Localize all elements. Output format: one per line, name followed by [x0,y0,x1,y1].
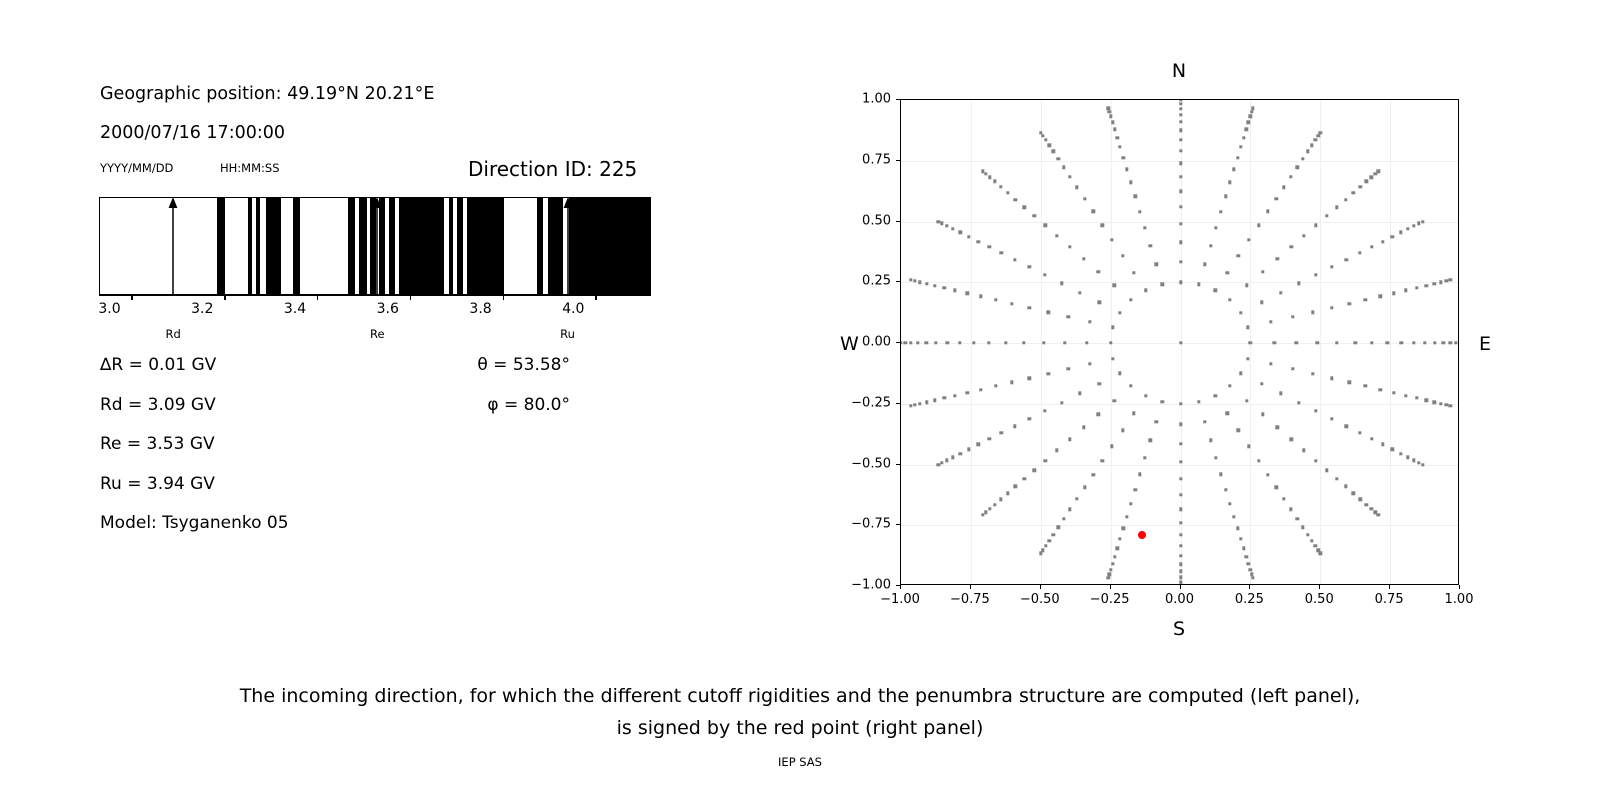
direction-point [945,224,948,227]
direction-point [1060,282,1063,285]
direction-point [1122,527,1125,530]
x-axis-tick-label: 0.00 [1165,592,1194,607]
direction-point [918,281,921,284]
direction-point [1330,265,1333,268]
direction-point [1226,412,1229,415]
direction-point [1214,394,1217,397]
direction-point [1247,238,1250,241]
direction-point [1179,493,1182,496]
direction-point [1392,391,1395,394]
direction-point [1249,341,1252,344]
penumbra-marker-arrow-rd [166,195,180,295]
direction-point [1155,263,1158,266]
direction-point [1010,302,1013,305]
direction-point [1132,271,1135,274]
direction-point [1236,156,1239,159]
direction-point [1454,341,1457,344]
direction-point [1179,460,1182,463]
direction-point [1121,429,1124,432]
direction-point [1335,341,1338,344]
gridline-horizontal [901,465,1458,466]
direction-point [951,227,954,230]
x-axis-tick [1180,585,1181,589]
direction-point [1101,459,1104,462]
direction-point [1381,240,1384,243]
direction-point [1134,488,1137,491]
direction-point [1203,420,1206,423]
direction-point [1257,223,1260,226]
direction-point [1251,107,1254,110]
direction-point [1302,449,1305,452]
direction-point [1179,175,1182,178]
x-axis-tick-label: −0.75 [950,592,990,607]
gridline-vertical [1320,100,1321,584]
direction-point [1179,260,1182,263]
direction-point [1275,485,1278,488]
direction-point [1039,131,1042,134]
x-axis-tick [900,585,901,589]
direction-point [1098,382,1101,385]
direction-point [1421,220,1424,223]
direction-point [1062,517,1065,520]
direction-point [1179,562,1182,565]
direction-point [1110,238,1113,241]
parameter-row: Model: Tsyganenko 05 [100,513,700,553]
penumbra-forbidden-band [399,198,444,294]
direction-point [925,400,928,403]
direction-point [1179,570,1182,573]
direction-point [979,295,982,298]
direction-point [1291,367,1294,370]
direction-point [1314,273,1317,276]
penumbra-axis-tick-label: 3.8 [469,301,491,317]
direction-point [1236,527,1239,530]
direction-point [1260,301,1263,304]
direction-point [1358,431,1361,434]
direction-point [1319,552,1322,555]
direction-point [1179,129,1182,132]
x-axis-tick [1459,585,1460,589]
direction-point [1335,206,1338,209]
direction-point [945,341,948,344]
direction-point [953,289,956,292]
direction-point [1228,298,1231,301]
y-axis-tick [896,585,900,586]
direction-point [1224,195,1227,198]
direction-point [1242,136,1245,139]
y-axis-tick-label: −0.25 [846,395,891,410]
direction-point [1348,381,1351,384]
penumbra-forbidden-band [266,198,281,294]
penumbra-forbidden-band [248,198,252,294]
direction-point [993,180,996,183]
direction-point [1325,214,1328,217]
direction-point [1143,226,1146,229]
footer-credit: IEP SAS [0,755,1600,769]
direction-point [1179,120,1182,123]
direction-point [1314,409,1317,412]
direction-point [1391,235,1394,238]
direction-point [1365,180,1368,183]
direction-point [1370,175,1373,178]
direction-point [1415,286,1418,289]
direction-point [1044,544,1047,547]
direction-point [1057,525,1060,528]
direction-point [1179,161,1182,164]
penumbra-axis-tick-label: 3.2 [191,301,213,317]
penumbra-forbidden-band [457,198,463,294]
direction-point [1364,298,1367,301]
direction-point [1316,134,1319,137]
caption-line-2: is signed by the red point (right panel) [0,712,1600,744]
penumbra-marker-arrow-ru [561,195,575,295]
direction-point [933,399,936,402]
direction-point [1179,533,1182,536]
direction-point [1330,306,1333,309]
parameter-name-value: Re = 3.53 GV [100,434,215,454]
direction-point [1423,341,1426,344]
direction-point [1237,254,1240,257]
penumbra-axis-tick-label: 3.6 [377,301,399,317]
direction-point [1109,568,1112,571]
direction-point [1445,279,1448,282]
direction-point [1067,315,1070,318]
direction-point [1144,394,1147,397]
direction-point [1376,513,1379,516]
direction-point [1097,270,1100,273]
direction-point [972,341,975,344]
direction-point [1028,377,1031,380]
direction-point [959,452,962,455]
direction-point [1376,169,1379,172]
compass-label-east: E [1479,333,1491,355]
direction-point [953,394,956,397]
direction-point [1289,175,1292,178]
direction-point [1439,402,1442,405]
direction-point [1097,413,1100,416]
direction-point [1442,341,1445,344]
direction-point [999,498,1002,501]
direction-point [1364,384,1367,387]
direction-point [1179,341,1182,344]
direction-point [909,404,912,407]
direction-point [1379,295,1382,298]
direction-point [1033,214,1036,217]
direction-point [1247,121,1250,124]
direction-point [1209,439,1212,442]
y-axis-tick-label: 0.00 [846,335,891,350]
penumbra-forbidden-band [449,198,454,294]
direction-point [1006,191,1009,194]
direction-point [1404,289,1407,292]
direction-point [900,341,903,344]
direction-point [1228,384,1231,387]
direction-point [1386,341,1389,344]
penumbra-forbidden-band [348,198,355,294]
geographic-position-label: Geographic position: 49.19°N 20.21°E [100,84,435,104]
direction-point [1359,185,1362,188]
y-axis-tick-label: 0.25 [846,274,891,289]
penumbra-forbidden-band [293,198,301,294]
direction-point [1247,562,1250,565]
direction-point [1458,341,1459,344]
direction-point [1353,341,1356,344]
direction-point [1179,240,1182,243]
direction-point [1348,302,1351,305]
direction-point [1022,341,1025,344]
direction-point [1042,341,1045,344]
direction-point [1052,533,1055,536]
compass-label-south: S [1173,618,1185,640]
direction-point [1319,131,1322,134]
penumbra-forbidden-band [256,198,261,294]
direction-point [1314,544,1317,547]
gridline-horizontal [901,525,1458,526]
direction-point [1379,388,1382,391]
direction-point [1129,502,1132,505]
direction-point [1289,508,1292,511]
direction-point [1111,562,1114,565]
direction-point [1129,384,1132,387]
direction-point [1261,270,1264,273]
direction-point [918,402,921,405]
penumbra-axis: 3.03.23.43.63.84.0RdReRu [99,295,651,355]
y-axis-tick [896,524,900,525]
direction-point [1057,157,1060,160]
gridline-vertical [1390,100,1391,584]
direction-point [1433,400,1436,403]
direction-point [1335,477,1338,480]
direction-point [988,175,991,178]
direction-point [1144,289,1147,292]
y-axis-tick-label: −0.75 [846,517,891,532]
direction-point [1214,456,1217,459]
direction-point [1197,283,1200,286]
direction-point [1399,452,1402,455]
direction-point [1314,138,1317,141]
direction-point [1301,525,1304,528]
direction-point [1043,273,1046,276]
direction-point [1179,189,1182,192]
direction-point [951,456,954,459]
direction-point [999,185,1002,188]
direction-point [1392,292,1395,295]
direction-point [1043,459,1046,462]
direction-point [1179,521,1182,524]
direction-point [1399,231,1402,234]
y-axis-tick [896,281,900,282]
direction-point [1219,473,1222,476]
direction-point [1044,138,1047,141]
direction-point [1129,181,1132,184]
direction-point [1197,400,1200,403]
direction-point [1091,473,1094,476]
direction-point [1113,284,1116,287]
direction-point [1179,477,1182,480]
direction-point [1047,143,1050,146]
y-axis-tick-label: 1.00 [846,92,891,107]
direction-point [1433,341,1436,344]
direction-point [1269,362,1272,365]
y-axis-tick [896,99,900,100]
direction-point [1226,271,1229,274]
direction-point [1314,224,1317,227]
x-axis-tick [1110,585,1111,589]
direction-point [1023,477,1026,480]
direction-point [1060,401,1063,404]
direction-point [903,341,906,344]
direction-point [1239,311,1242,314]
direction-point [1143,456,1146,459]
y-axis-tick-label: 0.50 [846,213,891,228]
direction-point [1155,420,1158,423]
penumbra-axis-tick [503,295,504,300]
direction-point [1115,547,1118,550]
direction-point [1047,310,1050,313]
direction-point [1276,425,1279,428]
direction-point [1179,508,1182,511]
direction-point [1203,263,1206,266]
penumbra-forbidden-band [467,198,503,294]
parameter-name-value: ∆R = 0.01 GV [100,355,216,375]
penumbra-marker-label-ru: Ru [560,327,575,341]
direction-point [1028,417,1031,420]
y-axis-tick-label: 0.75 [846,152,891,167]
direction-point [1113,399,1116,402]
direction-point [1055,449,1058,452]
direction-point [1000,251,1003,254]
direction-point [1106,576,1109,579]
direction-point [1108,110,1111,113]
y-axis-tick [896,403,900,404]
direction-point [1115,136,1118,139]
direction-point [1013,425,1016,428]
direction-point [1179,423,1182,426]
direction-point [1445,403,1448,406]
direction-point [1023,206,1026,209]
direction-point [925,282,928,285]
direction-point [1359,498,1362,501]
direction-point [1406,227,1409,230]
parameter-row: Rd = 3.09 GVφ = 80.0° [100,395,700,435]
direction-point [1449,278,1452,281]
direction-point [1043,224,1046,227]
direction-point [1272,341,1275,344]
parameter-list: ∆R = 0.01 GVθ = 53.58°Rd = 3.09 GVφ = 80… [100,355,700,553]
direction-point [1237,429,1240,432]
direction-point [1062,166,1065,169]
direction-point [1000,431,1003,434]
direction-point [1179,442,1182,445]
direction-point [1239,537,1242,540]
direction-point [1078,392,1081,395]
x-axis-tick-label: 0.50 [1305,592,1334,607]
direction-point [1295,166,1298,169]
direction-point [1118,311,1121,314]
direction-point [1028,265,1031,268]
direction-point [1111,326,1114,329]
direction-point [943,396,946,399]
caption-line-1: The incoming direction, for which the di… [0,680,1600,712]
parameter-name-value: Ru = 3.94 GV [100,474,215,494]
direction-point [1149,439,1152,442]
direction-point [937,463,940,466]
parameter-angle-value: θ = 53.58° [477,355,570,375]
direction-point [988,507,991,510]
direction-point [1345,425,1348,428]
direction-point [1352,191,1355,194]
direction-point [1282,497,1285,500]
direction-point [988,437,991,440]
direction-point [1138,473,1141,476]
direction-point [1314,459,1317,462]
direction-point [1010,381,1013,384]
direction-point [1330,377,1333,380]
direction-point [987,341,990,344]
direction-point [1358,251,1361,254]
penumbra-forbidden-band [389,198,395,294]
direction-point [1179,149,1182,152]
direction-point [1415,396,1418,399]
direction-point [1421,463,1424,466]
direction-point [913,279,916,282]
penumbra-axis-tick [595,295,596,300]
direction-point [1224,488,1227,491]
direction-point [1275,197,1278,200]
direction-point [1085,341,1088,344]
direction-point [1091,210,1094,213]
direction-point [1109,341,1112,344]
parameter-name-value: Model: Tsyganenko 05 [100,513,289,533]
direction-scatter-plot [900,99,1459,585]
direction-point [1179,102,1182,105]
direction-point [1239,372,1242,375]
direction-point [958,341,961,344]
direction-point [1083,485,1086,488]
y-axis-tick [896,221,900,222]
direction-point [1232,515,1235,518]
direction-point [981,169,984,172]
direction-point [966,391,969,394]
direction-point [1306,150,1309,153]
x-axis-tick [1319,585,1320,589]
direction-point [1266,210,1269,213]
direction-point [909,278,912,281]
direction-point [1033,468,1036,471]
direction-point [1232,168,1235,171]
direction-point [1067,367,1070,370]
direction-point [1111,357,1114,360]
direction-point [1088,362,1091,365]
direction-point [1370,507,1373,510]
direction-point [1249,115,1252,118]
direction-point [1412,459,1415,462]
direction-point [1125,515,1128,518]
direction-point [966,292,969,295]
time-format-hint: HH:MM:SS [220,161,280,175]
direction-point [1121,254,1124,257]
direction-point [984,511,987,514]
direction-point [1251,576,1254,579]
direction-point [940,461,943,464]
x-axis-tick-label: 1.00 [1445,592,1474,607]
direction-point [1179,107,1182,110]
penumbra-forbidden-band [537,198,543,294]
penumbra-axis-tick-label: 3.4 [284,301,306,317]
direction-point [1068,175,1071,178]
direction-point [994,384,997,387]
direction-point [1250,110,1253,113]
